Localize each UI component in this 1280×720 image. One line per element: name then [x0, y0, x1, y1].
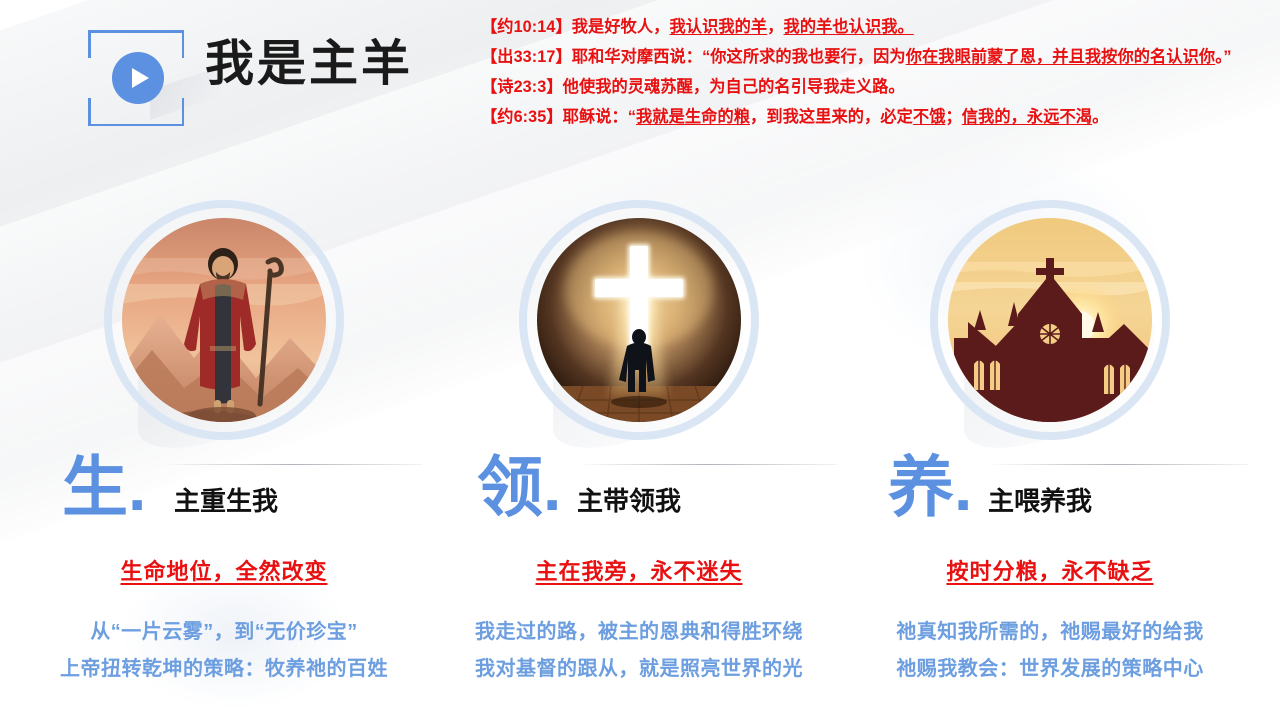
scripture-ref: 【出33:17】 — [481, 48, 572, 66]
heading-rule — [988, 464, 1248, 465]
column-blue-notes: 祂真知我所需的，祂赐最好的给我 祂赐我教会：世界发展的策略中心 — [840, 614, 1260, 688]
column-ling: 领. 主带领我 主在我旁，永不迷失 我走过的路，被主的恩典和得胜环绕 我对基督的… — [429, 196, 849, 720]
blue-note-line: 从“一片云雾”，到“无价珍宝” — [14, 614, 434, 651]
scripture-seg: 耶和华对摩西说：“你这所求的我也要行，因为 — [572, 48, 906, 66]
scripture-seg: ，到我这里来的，必定 — [750, 108, 913, 126]
blue-note-line: 祂真知我所需的，祂赐最好的给我 — [840, 614, 1260, 651]
scripture-line: 【约10:14】我是好牧人，我认识我的羊，我的羊也认识我。 — [481, 12, 1243, 42]
big-character-text: 养 — [888, 450, 954, 524]
column-blue-notes: 我走过的路，被主的恩典和得胜环绕 我对基督的跟从，就是照亮世界的光 — [429, 614, 849, 688]
big-character: 领. — [477, 454, 561, 520]
scripture-ref: 【诗23:3】 — [481, 78, 563, 96]
scripture-seg: 。” — [1215, 48, 1231, 66]
scripture-seg-underlined: 信我的，永远不渴 — [962, 108, 1092, 126]
big-character: 生. — [62, 454, 146, 520]
scripture-seg: ， — [767, 18, 783, 36]
column-heading-3: 养. 主喂养我 — [840, 458, 1260, 530]
column-red-statement: 生命地位，全然改变 — [14, 554, 434, 586]
blue-note-line: 祂赐我教会：世界发展的策略中心 — [840, 651, 1260, 688]
circle-image-1 — [104, 200, 344, 440]
circle-ring — [519, 200, 759, 440]
column-heading-2: 领. 主带领我 — [429, 458, 849, 530]
scripture-seg-underlined: 不饿 — [913, 108, 946, 126]
scripture-seg-underlined: 我认识我的羊 — [670, 18, 768, 36]
big-character-dot: . — [954, 450, 972, 524]
scripture-line: 【出33:17】耶和华对摩西说：“你这所求的我也要行，因为你在我眼前蒙了恩，并且… — [481, 42, 1243, 72]
big-character-dot: . — [543, 450, 561, 524]
blue-note-line: 我对基督的跟从，就是照亮世界的光 — [429, 651, 849, 688]
circle-ring — [104, 200, 344, 440]
page-title: 我是主羊 — [205, 40, 413, 89]
column-subheading: 主喂养我 — [988, 488, 1280, 514]
logo — [88, 30, 188, 130]
circle-ring — [930, 200, 1170, 440]
column-red-statement: 主在我旁，永不迷失 — [429, 554, 849, 586]
big-character-dot: . — [128, 450, 146, 524]
scripture-seg-underlined: 我就是生命的粮 — [636, 108, 750, 126]
scripture-seg: 。 — [1092, 108, 1108, 126]
column-heading-1: 生. 主重生我 — [14, 458, 434, 530]
column-red-statement: 按时分粮，永不缺乏 — [840, 554, 1260, 586]
slide-header: 我是主羊 【约10:14】我是好牧人，我认识我的羊，我的羊也认识我。 【出33:… — [0, 0, 1280, 200]
scripture-line: 【约6:35】耶稣说：“我就是生命的粮，到我这里来的，必定不饿；信我的，永远不渴… — [481, 102, 1243, 132]
column-yang: 养. 主喂养我 按时分粮，永不缺乏 祂真知我所需的，祂赐最好的给我 祂赐我教会：… — [840, 196, 1260, 720]
scripture-seg: 我是好牧人， — [572, 18, 670, 36]
circle-image-3 — [930, 200, 1170, 440]
play-button-icon[interactable] — [112, 52, 164, 104]
scripture-line: 【诗23:3】他使我的灵魂苏醒，为自己的名引导我走义路。 — [481, 72, 1243, 102]
scripture-seg-underlined: 你在我眼前蒙了恩，并且我按你的名认识你 — [906, 48, 1215, 66]
scripture-seg: 他使我的灵魂苏醒，为自己的名引导我走义路。 — [563, 78, 905, 96]
column-sheng: 生. 主重生我 生命地位，全然改变 从“一片云雾”，到“无价珍宝” 上帝扭转乾坤… — [14, 196, 434, 720]
circle-image-2 — [519, 200, 759, 440]
blue-note-line: 上帝扭转乾坤的策略：牧养祂的百姓 — [14, 651, 434, 688]
scripture-ref: 【约6:35】 — [481, 108, 563, 126]
column-blue-notes: 从“一片云雾”，到“无价珍宝” 上帝扭转乾坤的策略：牧养祂的百姓 — [14, 614, 434, 688]
big-character-text: 生 — [62, 450, 128, 524]
heading-rule — [162, 464, 422, 465]
big-character: 养. — [888, 454, 972, 520]
scripture-seg: ； — [945, 108, 961, 126]
three-column-section: 生. 主重生我 生命地位，全然改变 从“一片云雾”，到“无价珍宝” 上帝扭转乾坤… — [0, 196, 1280, 720]
scripture-seg: 耶稣说：“ — [563, 108, 636, 126]
blue-note-line: 我走过的路，被主的恩典和得胜环绕 — [429, 614, 849, 651]
scripture-seg-underlined: 我的羊也认识我。 — [784, 18, 914, 36]
heading-rule — [577, 464, 837, 465]
slide-canvas: 我是主羊 【约10:14】我是好牧人，我认识我的羊，我的羊也认识我。 【出33:… — [0, 0, 1280, 720]
big-character-text: 领 — [477, 450, 543, 524]
scripture-ref: 【约10:14】 — [481, 18, 572, 36]
scripture-block: 【约10:14】我是好牧人，我认识我的羊，我的羊也认识我。 【出33:17】耶和… — [481, 12, 1243, 132]
